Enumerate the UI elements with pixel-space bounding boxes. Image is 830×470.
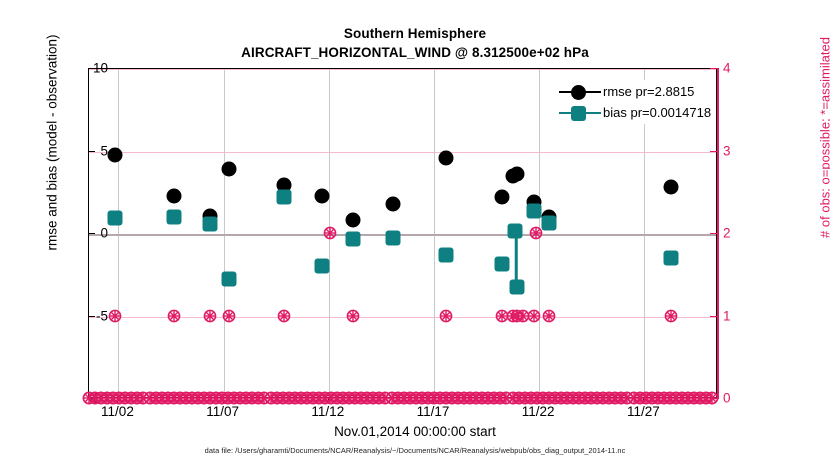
rmse-data-point (438, 150, 453, 165)
bias-data-point (526, 203, 541, 218)
bias-data-point (438, 248, 453, 263)
x-axis-label: Nov.01,2014 00:00:00 start (0, 424, 830, 439)
bias-data-point (314, 259, 329, 274)
bias-data-point (346, 231, 361, 246)
gridline-horizontal (89, 317, 716, 318)
rmse-data-point (167, 188, 182, 203)
secondary-y-axis-spine (717, 68, 719, 399)
secondary-y-axis-tick-label: 4 (723, 61, 753, 76)
secondary-y-axis-tick-mark (710, 316, 717, 317)
bias-data-point (203, 216, 218, 231)
y-axis-tick-label: -5 (48, 308, 108, 323)
obs-assimilated-marker (706, 392, 719, 405)
zero-reference-line (89, 234, 716, 236)
chart-canvas: Southern Hemisphere AIRCRAFT_HORIZONTAL_… (0, 0, 830, 470)
secondary-y-axis-tick-mark (710, 233, 717, 234)
x-axis-tick-label: 11/12 (311, 404, 344, 419)
rmse-data-point (495, 189, 510, 204)
y-axis-tick-mark (88, 233, 95, 234)
obs-assimilated-marker (664, 309, 677, 322)
secondary-y-axis-tick-label: 2 (723, 226, 753, 241)
chart-title-line2: AIRCRAFT_HORIZONTAL_WIND @ 8.312500e+02 … (0, 43, 830, 62)
obs-assimilated-marker (222, 309, 235, 322)
obs-assimilated-marker (204, 309, 217, 322)
obs-assimilated-marker (439, 309, 452, 322)
bias-data-point (108, 211, 123, 226)
bias-data-point (663, 250, 678, 265)
obs-assimilated-marker (542, 309, 555, 322)
bias-marker-icon (559, 103, 601, 123)
gridline-vertical (434, 69, 435, 397)
secondary-y-axis-tick-label: 1 (723, 308, 753, 323)
y-axis-tick-mark (88, 68, 95, 69)
secondary-y-axis-tick-label: 3 (723, 143, 753, 158)
series-connector-line (515, 231, 518, 288)
chart-title-line1: Southern Hemisphere (0, 24, 830, 43)
y-axis-tick-mark (88, 316, 95, 317)
bias-data-point (221, 272, 236, 287)
data-file-footnote: data file: /Users/gharamti/Documents/NCA… (0, 446, 830, 455)
rmse-data-point (386, 197, 401, 212)
legend-item-rmse: rmse pr=2.8815 (559, 81, 711, 102)
secondary-y-axis-tick-label: 0 (723, 391, 753, 406)
gridline-horizontal (89, 69, 716, 70)
legend-item-bias: bias pr=0.0014718 (559, 102, 711, 123)
rmse-data-point (346, 212, 361, 227)
rmse-data-point (314, 188, 329, 203)
bias-data-point (167, 209, 182, 224)
obs-assimilated-marker (347, 309, 360, 322)
secondary-y-axis-tick-mark (710, 68, 717, 69)
obs-assimilated-marker (168, 309, 181, 322)
bias-data-point (276, 189, 291, 204)
rmse-data-point (510, 166, 525, 181)
rmse-data-point (663, 179, 678, 194)
bias-data-point (541, 216, 556, 231)
rmse-data-point (221, 161, 236, 176)
obs-assimilated-marker (109, 309, 122, 322)
x-axis-tick-label: 11/17 (417, 404, 450, 419)
obs-assimilated-marker (323, 227, 336, 240)
legend-label-bias: bias pr=0.0014718 (601, 102, 711, 123)
gridline-vertical (224, 69, 225, 397)
secondary-y-axis-label: # of obs: o=possible; *=assimilated (818, 0, 830, 303)
rmse-data-point (108, 147, 123, 162)
obs-assimilated-marker (277, 309, 290, 322)
x-axis-tick-label: 11/02 (101, 404, 134, 419)
gridline-horizontal (89, 152, 716, 153)
x-axis-tick-label: 11/07 (206, 404, 239, 419)
bias-data-point (386, 230, 401, 245)
bias-data-point (508, 223, 523, 238)
chart-title: Southern Hemisphere AIRCRAFT_HORIZONTAL_… (0, 24, 830, 62)
secondary-y-axis-tick-mark (710, 151, 717, 152)
obs-assimilated-marker (527, 309, 540, 322)
rmse-marker-icon (559, 82, 601, 102)
x-axis-tick-label: 11/22 (522, 404, 555, 419)
x-axis-tick-label: 11/27 (627, 404, 660, 419)
legend-label-rmse: rmse pr=2.8815 (601, 81, 694, 102)
bias-data-point (495, 256, 510, 271)
bias-data-point (510, 280, 525, 295)
y-axis-tick-mark (88, 151, 95, 152)
gridline-vertical (118, 69, 119, 397)
y-axis-label: rmse and bias (model - observation) (45, 0, 60, 308)
chart-legend: rmse pr=2.8815 bias pr=0.0014718 (556, 80, 714, 124)
